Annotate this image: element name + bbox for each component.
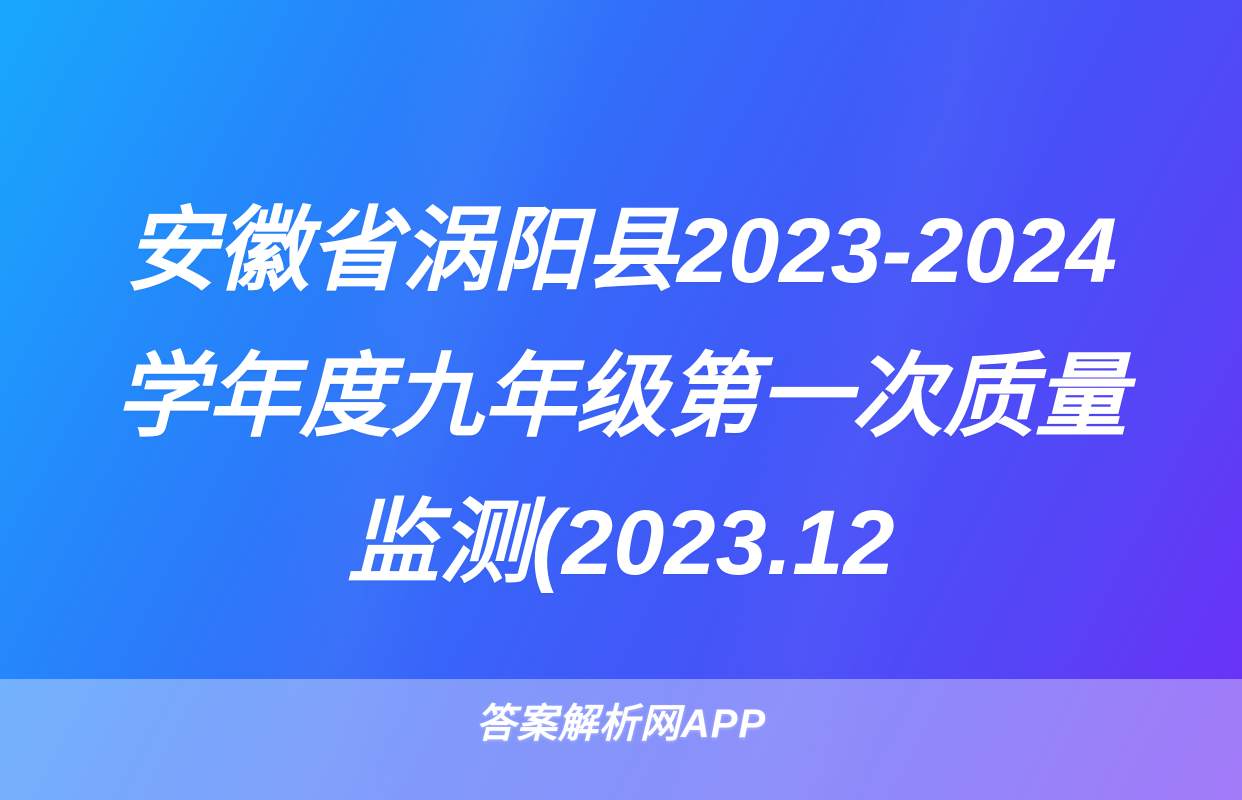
title-area: 安徽省涡阳县2023-2024学年度九年级第一次质量监测(2023.12	[88, 178, 1154, 618]
cover-card: 安徽省涡阳县2023-2024学年度九年级第一次质量监测(2023.12 答案解…	[0, 0, 1242, 800]
watermark-text: 答案解析网APP	[476, 679, 766, 747]
watermark-band: 答案解析网APP	[0, 679, 1242, 800]
page-title: 安徽省涡阳县2023-2024学年度九年级第一次质量监测(2023.12	[88, 178, 1154, 616]
